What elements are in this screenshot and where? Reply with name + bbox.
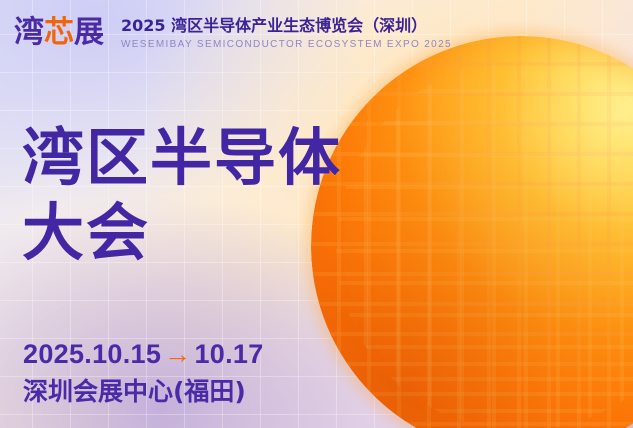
arrow-right-icon: → [161,339,194,369]
globe-sphere-graphic [311,36,633,428]
event-date-start: 2025.10.15 [23,339,161,369]
brand-logo: 湾芯展 [14,18,104,48]
event-venue: 深圳会展中心(福田) [23,376,264,408]
event-date: 2025.10.15→10.17 [23,337,264,371]
page-title: 湾区半导体 大会 [22,120,342,270]
sphere-edge-highlight [311,36,633,428]
brand-logo-char-3: 展 [74,15,104,50]
page-title-line-2: 大会 [22,195,342,270]
page-title-line-1: 湾区半导体 [22,120,342,195]
brand-logo-char-chip: 芯 [44,15,74,50]
expo-title-en: WESEMIBAY SEMICONDUCTOR ECOSYSTEM EXPO 2… [121,38,452,52]
expo-title-cn: 2025 湾区半导体产业生态博览会（深圳） [121,16,452,36]
brand-logo-char-1: 湾 [14,15,44,50]
poster-footer: 2025.10.15→10.17 深圳会展中心(福田) [23,337,264,408]
event-poster: 湾芯展 2025 湾区半导体产业生态博览会（深圳） WESEMIBAY SEMI… [0,0,633,428]
header-text-block: 2025 湾区半导体产业生态博览会（深圳） WESEMIBAY SEMICOND… [121,16,452,52]
event-date-end: 10.17 [194,339,263,369]
poster-header: 湾芯展 2025 湾区半导体产业生态博览会（深圳） WESEMIBAY SEMI… [14,14,452,50]
